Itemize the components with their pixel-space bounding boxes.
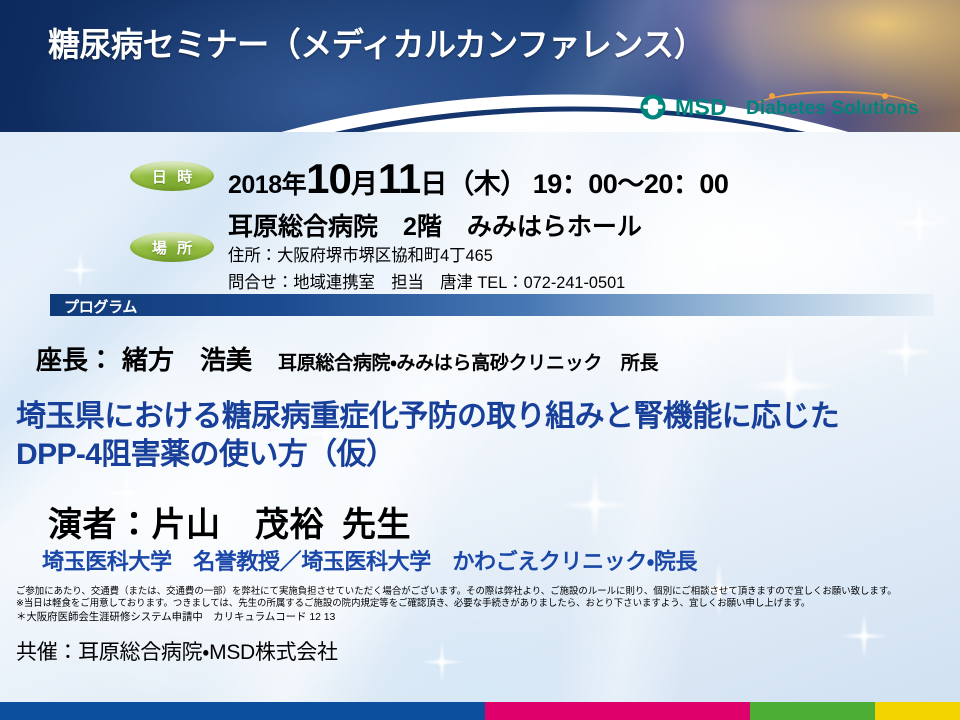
chair-role-label: 座長： [36, 340, 114, 377]
msd-tagline: Diabetes Solutions [746, 98, 919, 119]
disclaimer-line-2: ※当日は軽食をご用意しております。つきましては、先生の所属するご施設の院内規定等… [16, 598, 935, 610]
lecture-title-line-2: DPP-4阻害薬の使い方（仮） [16, 436, 946, 474]
lecture-title-line-1: 埼玉県における糖尿病重症化予防の取り組みと腎機能に応じた [16, 398, 946, 436]
footer-segment-blue [0, 702, 485, 720]
date-day-number: 11 [378, 155, 420, 203]
chair-name: 緒方 浩美 [122, 340, 252, 377]
speaker-name: 片山 茂裕 [152, 506, 325, 544]
date-time-range: 19：00〜20：00 [533, 162, 729, 201]
msd-wordmark: MSD [675, 96, 727, 119]
speaker-affiliation: 埼玉医科大学 名誉教授／埼玉医科大学 かわごえクリニック・院長 [42, 544, 697, 576]
date-day-unit: 日 [420, 162, 447, 201]
date-badge: 日 時 [130, 161, 214, 191]
page-title: 糖尿病セミナー（メディカルカンファレンス） [48, 18, 705, 66]
date-weekday: （木） [447, 162, 527, 201]
msd-tagline-wrap: Diabetes Solutions [746, 95, 919, 119]
date-badge-label: 日 時 [149, 166, 195, 187]
footer-color-bar [0, 702, 960, 720]
lecture-title: 埼玉県における糖尿病重症化予防の取り組みと腎機能に応じた DPP-4阻害薬の使い… [16, 398, 946, 474]
date-year: 2018年 [228, 165, 306, 201]
speaker-line: 演者：片山 茂裕先生 [48, 497, 411, 546]
disclaimer-notes: ご参加にあたり、交通費（または、交通費の一部）を弊社にて実施負担させていただく場… [16, 586, 944, 625]
venue-name: 耳原総合病院 2階 みみはらホール [228, 207, 642, 243]
footer-segment-magenta [485, 702, 750, 720]
place-badge: 場 所 [130, 232, 214, 262]
cohost-line: 共催：耳原総合病院・MSD株式会社 [16, 636, 338, 666]
program-section-label: プログラム [64, 296, 137, 317]
chair-affiliation: 耳原総合病院・みみはら高砂クリニック 所長 [278, 348, 658, 375]
speaker-label: 演者： [48, 506, 152, 544]
venue-address: 住所：大阪府堺市堺区協和町4丁465 [228, 241, 493, 266]
footer-segment-green [750, 702, 875, 720]
disclaimer-line-1: ご参加にあたり、交通費（または、交通費の一部）を弊社にて実施負担させていただく場… [16, 586, 935, 598]
place-badge-label: 場 所 [149, 237, 195, 258]
date-month-number: 10 [306, 155, 351, 203]
footer-segment-yellow [875, 702, 960, 720]
seminar-poster: 糖尿病セミナー（メディカルカンファレンス） MSD Diabetes Solut… [0, 0, 960, 720]
msd-cross-icon [640, 94, 666, 120]
program-section-bar [50, 294, 934, 316]
speaker-honorific: 先生 [342, 506, 411, 544]
seminar-date: 2018年 10 月 11 日 （木） 19：00〜20：00 [228, 155, 728, 203]
venue-contact: 問合せ：地域連携室 担当 唐津 TEL：072-241-0501 [228, 268, 625, 293]
msd-logo: MSD Diabetes Solutions [640, 92, 919, 122]
chairperson-line: 座長： 緒方 浩美 耳原総合病院・みみはら高砂クリニック 所長 [36, 340, 658, 377]
disclaimer-line-3: ＊大阪府医師会生涯研修システム申請中 カリキュラムコード 12 13 [16, 610, 935, 625]
date-month-unit: 月 [351, 162, 378, 201]
